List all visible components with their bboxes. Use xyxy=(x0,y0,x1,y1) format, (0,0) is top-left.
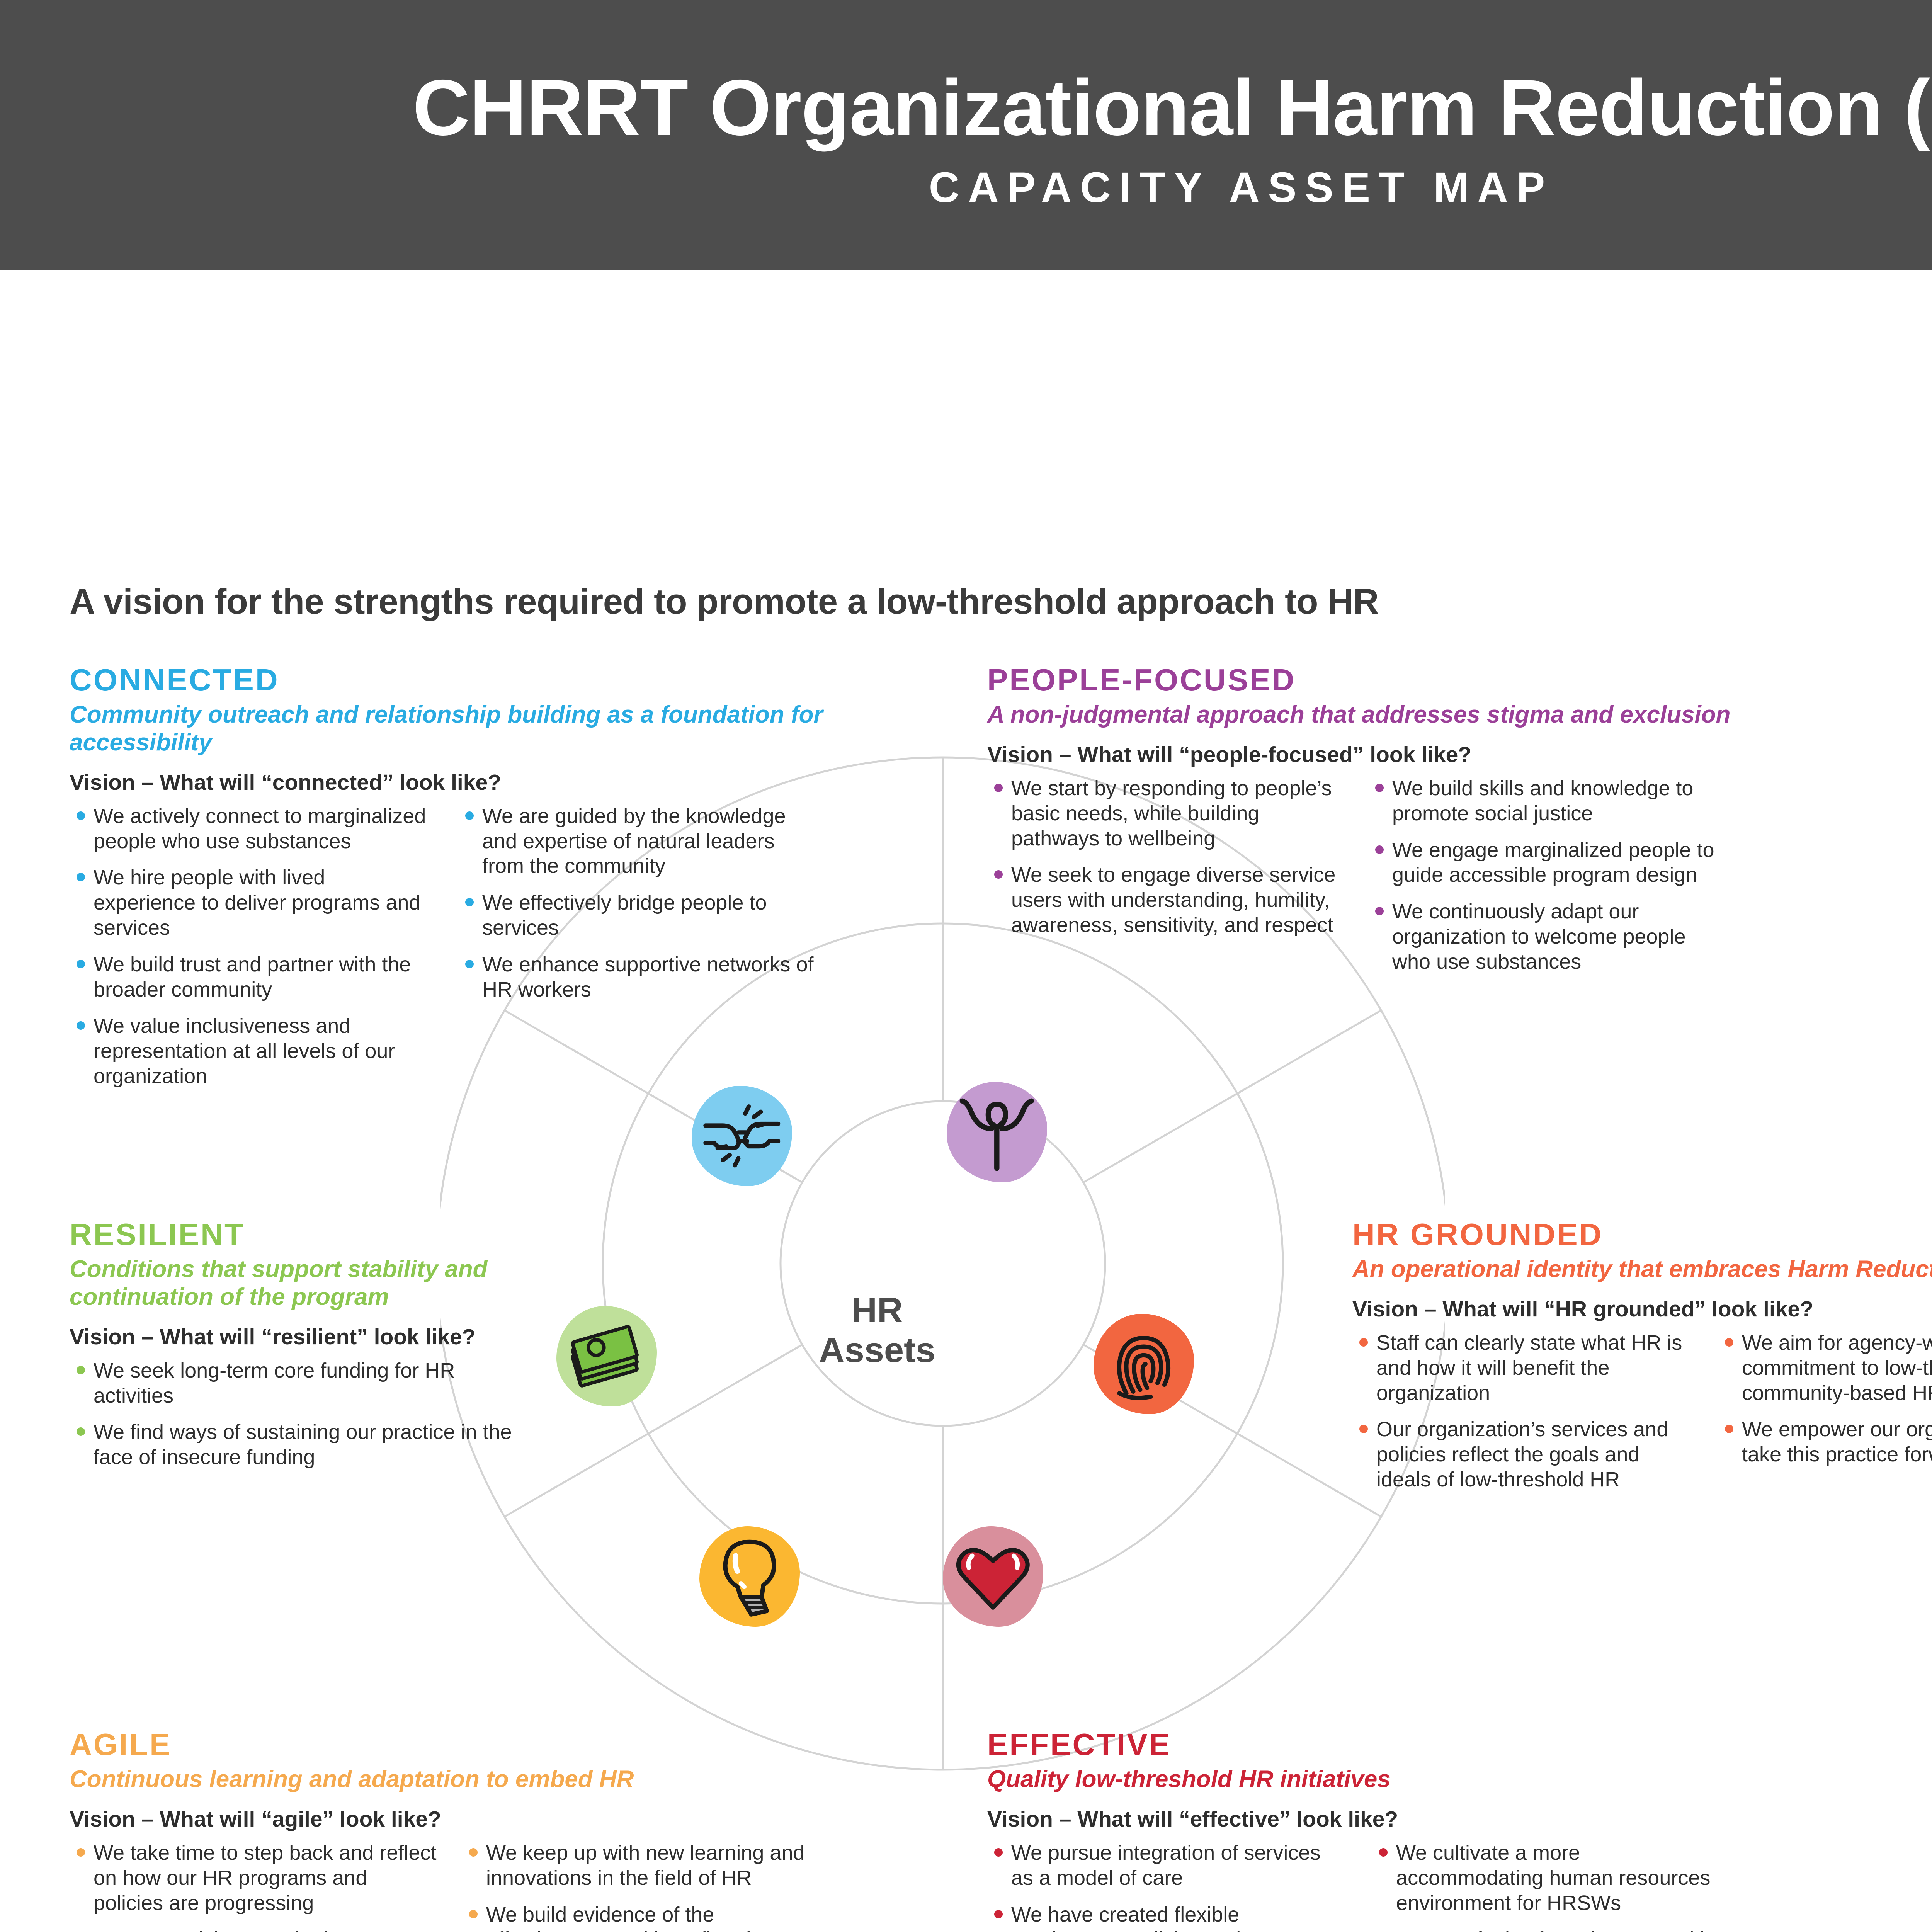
hub-label-line1: HR xyxy=(769,1291,985,1330)
list-item: We pursue integration of services as a m… xyxy=(987,1840,1347,1891)
list-item: We seek long-term core funding for HR ac… xyxy=(70,1358,526,1408)
hub-label: HR Assets xyxy=(769,1291,985,1370)
list-item: We find ways of sustaining our practice … xyxy=(70,1420,526,1470)
category-description-connected: Community outreach and relationship buil… xyxy=(70,701,873,757)
points-list-connected-left: We actively connect to marginalized peop… xyxy=(70,804,433,1089)
points-list-hr-grounded-left: Staff can clearly state what HR is and h… xyxy=(1352,1330,1692,1492)
list-item: We empower our organization to take this… xyxy=(1718,1417,1932,1467)
list-item: We build skills and knowledge to promote… xyxy=(1368,776,1728,826)
list-item: We can anticipate and adapt to emerging … xyxy=(70,1927,437,1932)
category-hr-grounded: HR GROUNDED An operational identity that… xyxy=(1352,1219,1932,1504)
list-item: We seek to engage diverse service users … xyxy=(987,862,1343,937)
category-description-people-focused: A non-judgmental approach that addresses… xyxy=(987,701,1752,729)
page-subtitle: CAPACITY ASSET MAP xyxy=(929,163,1553,212)
fist-bump-icon xyxy=(692,1086,792,1186)
lightbulb-icon xyxy=(699,1526,800,1627)
list-item: We keep up with new learning and innovat… xyxy=(462,1840,821,1891)
list-item: We effectively bridge people to services xyxy=(458,890,818,940)
list-item: We build trust and partner with the broa… xyxy=(70,952,433,1002)
points-list-agile-left: We take time to step back and reflect on… xyxy=(70,1840,437,1932)
list-item: HRSWs feel safe and supported in their w… xyxy=(1372,1927,1731,1932)
category-description-resilient: Conditions that support stability and co… xyxy=(70,1255,526,1311)
vision-question-resilient: Vision – What will “resilient” look like… xyxy=(70,1324,526,1350)
list-item: We take time to step back and reflect on… xyxy=(70,1840,437,1915)
points-list-people-focused-left: We start by responding to people’s basic… xyxy=(987,776,1343,938)
list-item: We build evidence of the effectiveness a… xyxy=(462,1902,821,1932)
category-name-resilient: RESILIENT xyxy=(70,1219,526,1250)
category-name-hr-grounded: HR GROUNDED xyxy=(1352,1219,1932,1250)
list-item: Our organization’s services and policies… xyxy=(1352,1417,1692,1492)
page-title: CHRRT Organizational Harm Reduction (HR) xyxy=(413,66,1932,149)
category-people-focused: PEOPLE-FOCUSED A non-judgmental approach… xyxy=(987,665,1752,986)
list-item: We aim for agency-wide commitment to low… xyxy=(1718,1330,1932,1405)
money-icon xyxy=(556,1306,657,1406)
vision-question-connected: Vision – What will “connected” look like… xyxy=(70,770,873,795)
points-list-agile-right: We keep up with new learning and innovat… xyxy=(462,1840,821,1932)
vision-question-hr-grounded: Vision – What will “HR grounded” look li… xyxy=(1352,1296,1932,1322)
vision-statement: A vision for the strengths required to p… xyxy=(70,582,1379,622)
category-effective: EFFECTIVE Quality low-threshold HR initi… xyxy=(987,1729,1745,1932)
category-name-agile: AGILE xyxy=(70,1729,869,1760)
category-description-hr-grounded: An operational identity that embraces Ha… xyxy=(1352,1255,1932,1283)
category-description-agile: Continuous learning and adaptation to em… xyxy=(70,1765,869,1793)
category-description-effective: Quality low-threshold HR initiatives xyxy=(987,1765,1745,1793)
page-header: CHRRT Organizational Harm Reduction (HR)… xyxy=(0,0,1932,270)
points-list-resilient: We seek long-term core funding for HR ac… xyxy=(70,1358,526,1470)
heart-icon xyxy=(943,1526,1043,1627)
category-name-people-focused: PEOPLE-FOCUSED xyxy=(987,665,1752,696)
category-connected: CONNECTED Community outreach and relatio… xyxy=(70,665,873,1100)
list-item: Staff can clearly state what HR is and h… xyxy=(1352,1330,1692,1405)
hub-label-line2: Assets xyxy=(769,1330,985,1370)
category-resilient: RESILIENT Conditions that support stabil… xyxy=(70,1219,526,1481)
points-list-effective-left: We pursue integration of services as a m… xyxy=(987,1840,1347,1932)
list-item: We actively connect to marginalized peop… xyxy=(70,804,433,854)
list-item: We hire people with lived experience to … xyxy=(70,865,433,940)
list-item: We have created flexible employment poli… xyxy=(987,1902,1347,1932)
list-item: We start by responding to people’s basic… xyxy=(987,776,1343,851)
fingerprint-icon xyxy=(1094,1314,1194,1414)
category-name-effective: EFFECTIVE xyxy=(987,1729,1745,1760)
points-list-hr-grounded-right: We aim for agency-wide commitment to low… xyxy=(1718,1330,1932,1467)
list-item: We value inclusiveness and representatio… xyxy=(70,1014,433,1088)
category-agile: AGILE Continuous learning and adaptation… xyxy=(70,1729,869,1932)
person-arms-raised-icon xyxy=(947,1082,1047,1182)
vision-question-agile: Vision – What will “agile” look like? xyxy=(70,1806,869,1832)
list-item: We enhance supportive networks of HR wor… xyxy=(458,952,818,1002)
points-list-effective-right: We cultivate a more accommodating human … xyxy=(1372,1840,1731,1932)
vision-question-effective: Vision – What will “effective” look like… xyxy=(987,1806,1745,1832)
points-list-people-focused-right: We build skills and knowledge to promote… xyxy=(1368,776,1728,975)
list-item: We cultivate a more accommodating human … xyxy=(1372,1840,1731,1915)
category-name-connected: CONNECTED xyxy=(70,665,873,696)
list-item: We are guided by the knowledge and exper… xyxy=(458,804,818,879)
page-body: A vision for the strengths required to p… xyxy=(0,270,1932,1918)
list-item: We continuously adapt our organization t… xyxy=(1368,899,1728,974)
points-list-connected-right: We are guided by the knowledge and exper… xyxy=(458,804,818,1002)
list-item: We engage marginalized people to guide a… xyxy=(1368,838,1728,888)
vision-question-people-focused: Vision – What will “people-focused” look… xyxy=(987,742,1752,767)
